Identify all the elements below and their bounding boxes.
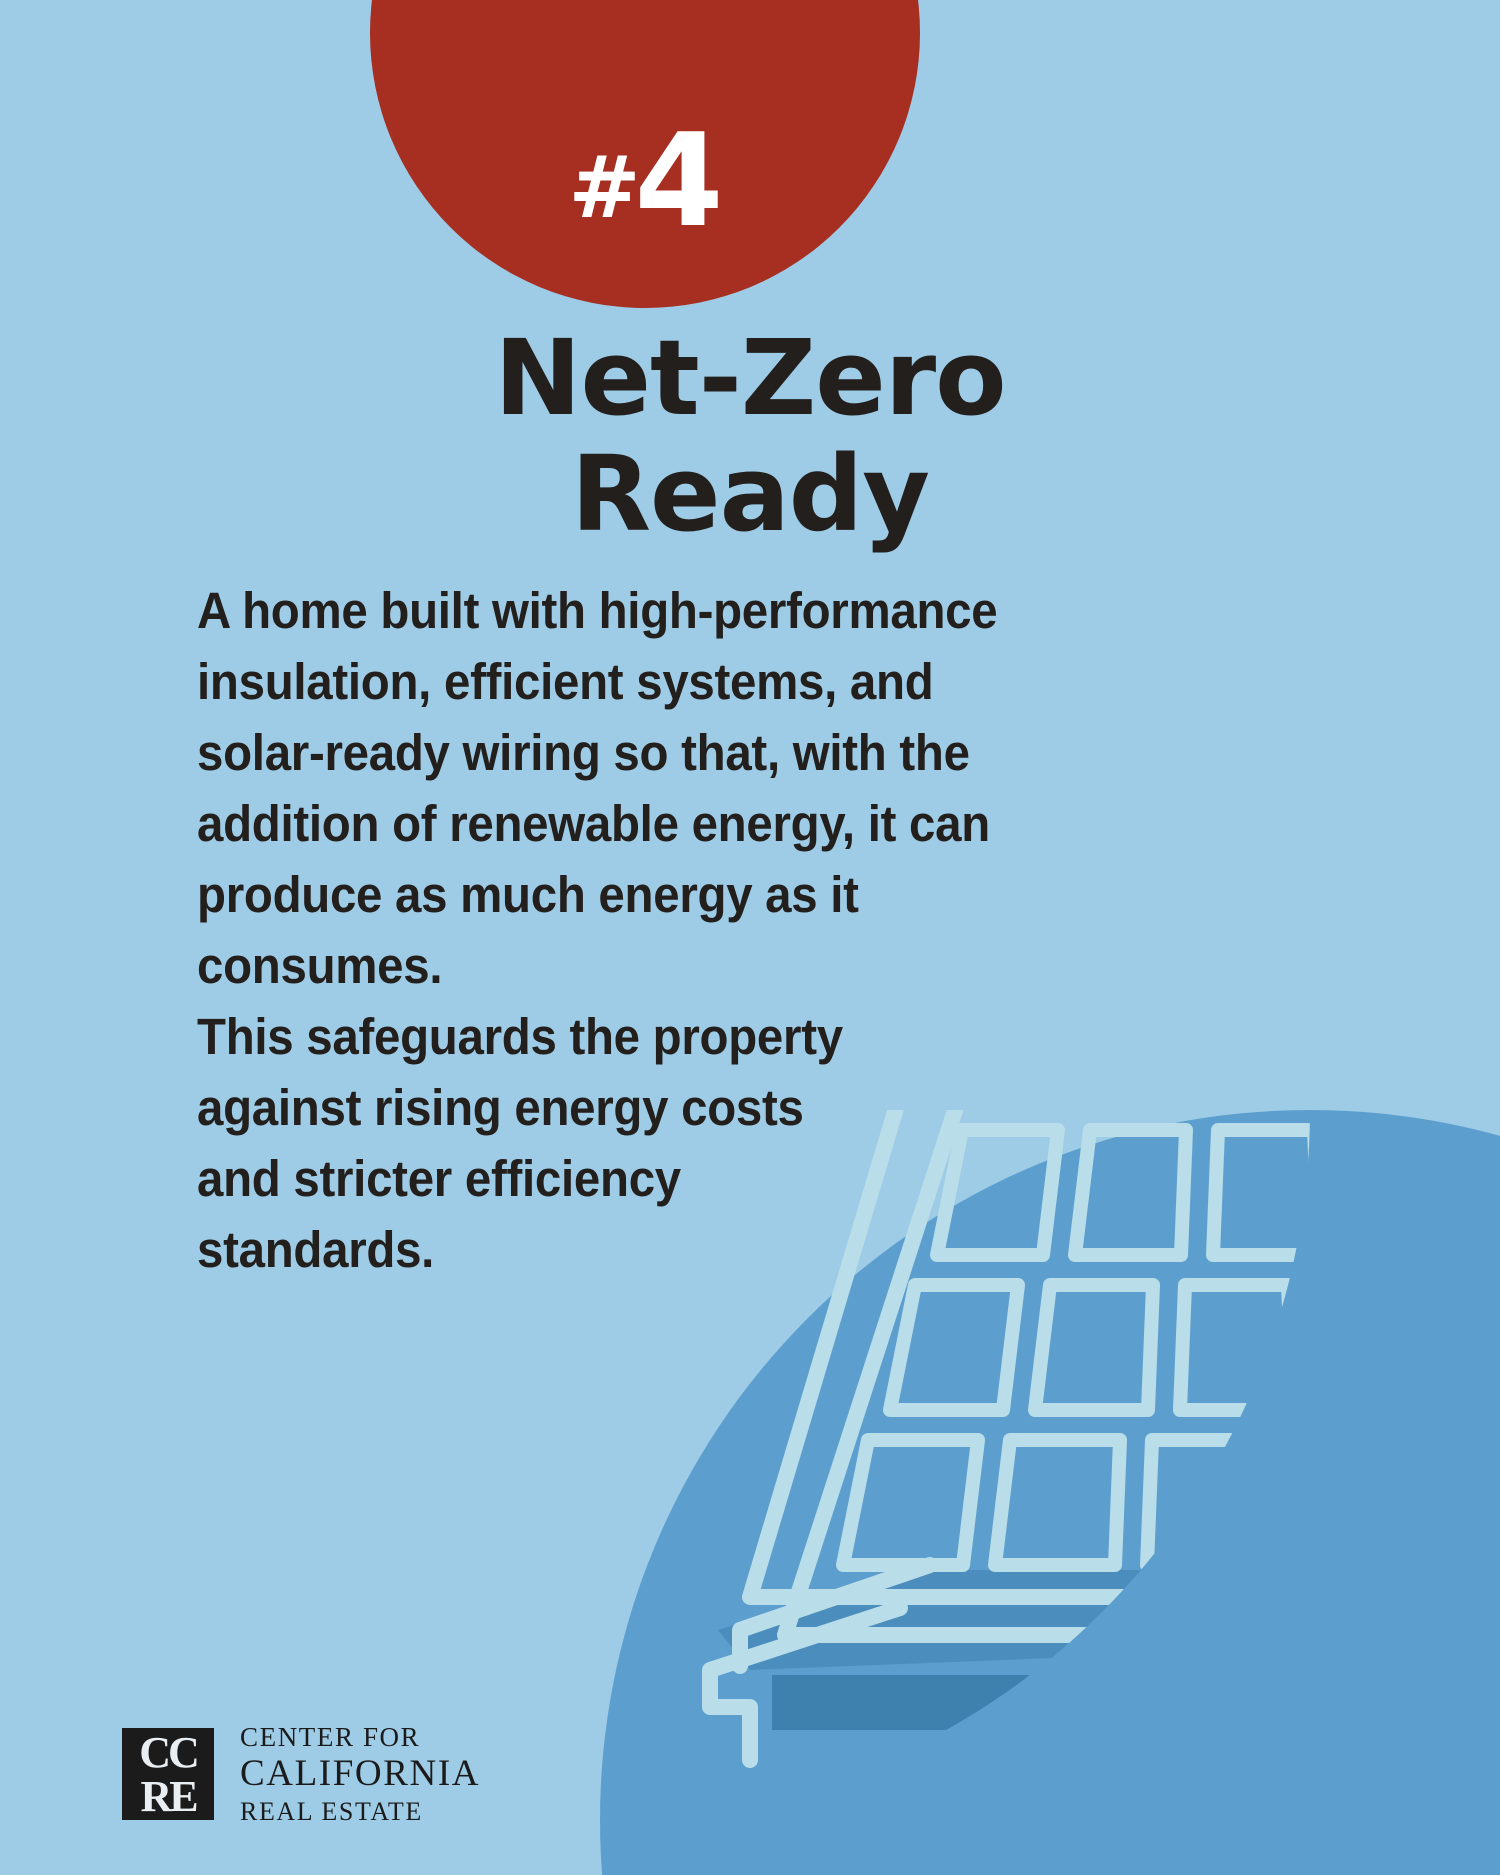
body-line: produce as much energy as it consumes.: [197, 859, 1034, 1001]
body-line: standards.: [197, 1214, 1034, 1285]
wordmark-line-2: CALIFORNIA: [240, 1753, 480, 1794]
body-line: insulation, efficient systems, and: [197, 646, 1034, 717]
ccre-logo: CC RE CENTER FOR CALIFORNIA REAL ESTATE: [122, 1722, 480, 1826]
body-line: This safeguards the property: [197, 1001, 1034, 1072]
badge-value: 4: [635, 107, 722, 256]
badge-number: #4: [568, 118, 721, 246]
ccre-logo-wordmark: CENTER FOR CALIFORNIA REAL ESTATE: [240, 1722, 480, 1826]
ccre-logo-mark: CC RE: [122, 1728, 214, 1820]
poster-canvas: #4 Net-Zero Ready A home built with high…: [0, 0, 1500, 1875]
ccre-monogram: CC RE: [122, 1728, 214, 1820]
page-title: Net-Zero Ready: [0, 320, 1500, 553]
monogram-bottom: RE: [140, 1775, 195, 1819]
number-badge: #4: [370, 0, 920, 308]
hash-symbol: #: [568, 138, 634, 238]
title-line-1: Net-Zero: [494, 317, 1005, 439]
title-line-2: Ready: [571, 433, 929, 555]
monogram-top: CC: [139, 1731, 197, 1775]
body-line: against rising energy costs: [197, 1072, 1034, 1143]
body-line: addition of renewable energy, it can: [197, 788, 1034, 859]
wordmark-line-1: CENTER FOR: [240, 1722, 480, 1752]
body-copy: A home built with high-performance insul…: [197, 575, 1034, 1285]
body-line: A home built with high-performance: [197, 575, 1034, 646]
body-line: and stricter efficiency: [197, 1143, 1034, 1214]
body-line: solar-ready wiring so that, with the: [197, 717, 1034, 788]
wordmark-line-3: REAL ESTATE: [240, 1797, 480, 1826]
